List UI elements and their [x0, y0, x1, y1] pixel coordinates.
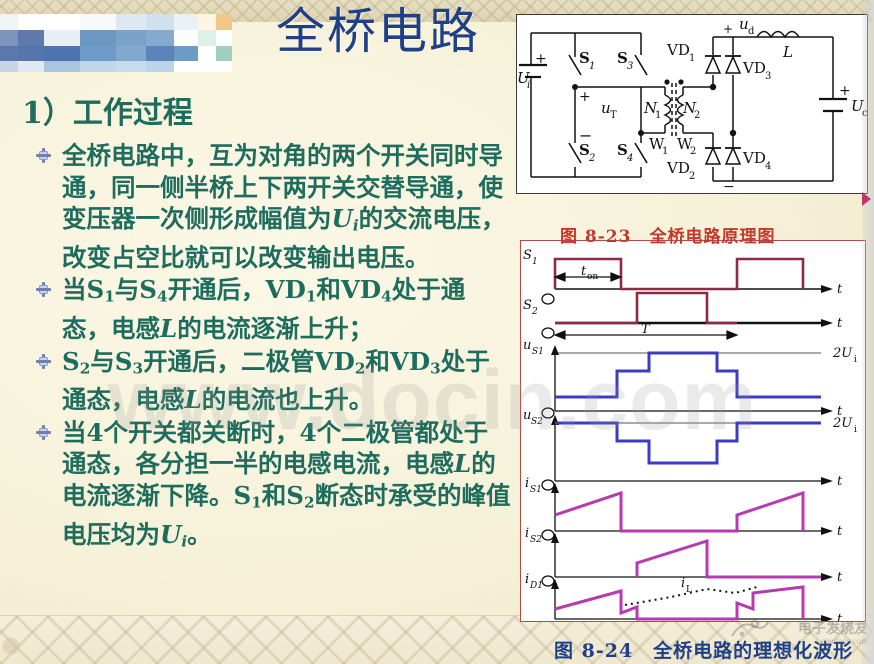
- svg-text:S2: S2: [530, 535, 542, 545]
- axis-t-6: t: [837, 570, 843, 585]
- annot-period: T: [641, 322, 651, 337]
- origin-marker: [542, 480, 554, 490]
- axis-t-4: t: [837, 474, 843, 489]
- annot-2ui-2: 2U: [832, 416, 853, 431]
- axis-label-is2: i: [525, 526, 529, 541]
- waveform-figure-caption: 图 8-24 全桥电路的理想化波形: [554, 636, 853, 663]
- svg-text:2: 2: [690, 146, 696, 157]
- list-item: S2与S3开通后，二极管VD2和VD3处于通态，电感L的电流也上升。: [36, 346, 512, 416]
- svg-text:1: 1: [532, 257, 538, 267]
- origin-marker: [542, 328, 554, 338]
- svg-text:1: 1: [655, 110, 661, 121]
- waveform-diagram-figure: S1 S2 uS1 uS2 iS1 iS2 iD1 t t t t: [520, 240, 866, 622]
- axis-label-id1: i: [525, 572, 529, 587]
- axis-t-5: t: [837, 524, 843, 539]
- circuit-diagram-figure: U i S 1 S 2 S 3 S 4 u T N 1 N 2 W 1 W 2: [516, 14, 868, 194]
- svg-text:4: 4: [626, 153, 633, 164]
- right-edge-strip: [862, 0, 874, 664]
- annot-2ui-1: 2U: [832, 346, 853, 361]
- bullet-marker-icon: [36, 148, 51, 163]
- axis-t-7: t: [837, 612, 843, 621]
- svg-text:2: 2: [588, 153, 595, 164]
- axis-t-2: t: [837, 316, 843, 331]
- blurred-logo-image: [0, 14, 232, 72]
- origin-marker: [542, 576, 554, 586]
- svg-text:3: 3: [765, 71, 771, 82]
- bullet-text-2: 当S1与S4开通后，VD1和VD4处于通态，电感L的电流逐渐上升；: [62, 275, 465, 343]
- svg-text:+: +: [535, 51, 547, 67]
- next-slide-marker-icon[interactable]: [862, 192, 871, 206]
- svg-text:+: +: [839, 83, 851, 99]
- svg-text:3: 3: [627, 61, 633, 72]
- list-item: 当S1与S4开通后，VD1和VD4处于通态，电感L的电流逐渐上升；: [36, 274, 512, 344]
- svg-text:S1: S1: [530, 485, 542, 495]
- annot-il-1: i: [681, 576, 685, 591]
- list-item: 当4个开关都关断时，4个二极管都处于通态，各分担一半的电感电流，电感L的电流逐渐…: [36, 417, 512, 558]
- svg-text:S1: S1: [532, 347, 544, 357]
- origin-marker: [542, 294, 554, 304]
- svg-text:+: +: [579, 89, 591, 105]
- circuit-figure-caption: 图 8-23 全桥电路原理图: [560, 222, 775, 247]
- bullet-marker-icon: [36, 282, 51, 297]
- label-vd1: VD: [666, 41, 690, 59]
- svg-text:S2: S2: [531, 417, 543, 427]
- svg-text:2: 2: [694, 110, 700, 121]
- svg-text:4: 4: [765, 161, 771, 172]
- axis-label-s1: S: [523, 248, 532, 263]
- svg-text:L: L: [686, 585, 692, 595]
- svg-text:T: T: [610, 110, 617, 121]
- svg-text:−: −: [579, 126, 592, 145]
- svg-text:on: on: [587, 272, 598, 282]
- svg-text:1: 1: [662, 146, 668, 157]
- axis-t-1: t: [837, 282, 843, 297]
- svg-text:2: 2: [531, 307, 538, 317]
- axis-label-s2: S: [523, 298, 532, 313]
- svg-text:i: i: [854, 355, 857, 365]
- label-vd4: VD: [742, 149, 766, 167]
- bullet-text-1: 全桥电路中，互为对角的两个开关同时导通，同一侧半桥上下两开关交替导通，使变压器一…: [62, 141, 506, 272]
- section-heading: 1）工作过程: [22, 88, 193, 132]
- axis-label-us1: u: [523, 338, 531, 353]
- svg-text:i: i: [854, 425, 857, 435]
- circuit-schematic-svg: U i S 1 S 2 S 3 S 4 u T N 1 N 2 W 1 W 2: [517, 15, 867, 193]
- bullet-text-3: S2与S3开通后，二极管VD2和VD3处于通态，电感L的电流也上升。: [62, 347, 490, 415]
- bullet-text-4: 当4个开关都关断时，4个二极管都处于通态，各分担一半的电感电流，电感L的电流逐渐…: [62, 418, 511, 549]
- svg-text:d: d: [748, 26, 755, 37]
- list-item: 全桥电路中，互为对角的两个开关同时导通，同一侧半桥上下两开关交替导通，使变压器一…: [36, 140, 512, 273]
- svg-text:2: 2: [689, 171, 695, 182]
- bullet-marker-icon: [36, 425, 51, 440]
- svg-text:D1: D1: [529, 581, 543, 591]
- slide-title: 全桥电路: [276, 6, 480, 58]
- slide-canvas: 全桥电路 1）工作过程 全桥电路中，互为对角的两个开关同时导通，同一侧半桥上下两…: [0, 0, 874, 664]
- svg-text:i: i: [527, 80, 530, 91]
- origin-marker: [542, 408, 554, 418]
- svg-text:−: −: [723, 179, 735, 193]
- axis-label-is1: i: [525, 476, 529, 491]
- label-vd3: VD: [742, 59, 766, 77]
- origin-marker: [542, 530, 554, 540]
- waveform-labels-svg: S1 S2 uS1 uS2 iS1 iS2 iD1 t t t t: [521, 241, 865, 621]
- bullet-marker-icon: [36, 354, 51, 369]
- label-inductor: L: [782, 43, 793, 61]
- bullet-list: 全桥电路中，互为对角的两个开关同时导通，同一侧半桥上下两开关交替导通，使变压器一…: [36, 140, 512, 562]
- svg-text:1: 1: [689, 53, 695, 64]
- svg-text:1: 1: [589, 61, 595, 72]
- label-vd2: VD: [666, 159, 690, 177]
- svg-text:+: +: [723, 22, 733, 36]
